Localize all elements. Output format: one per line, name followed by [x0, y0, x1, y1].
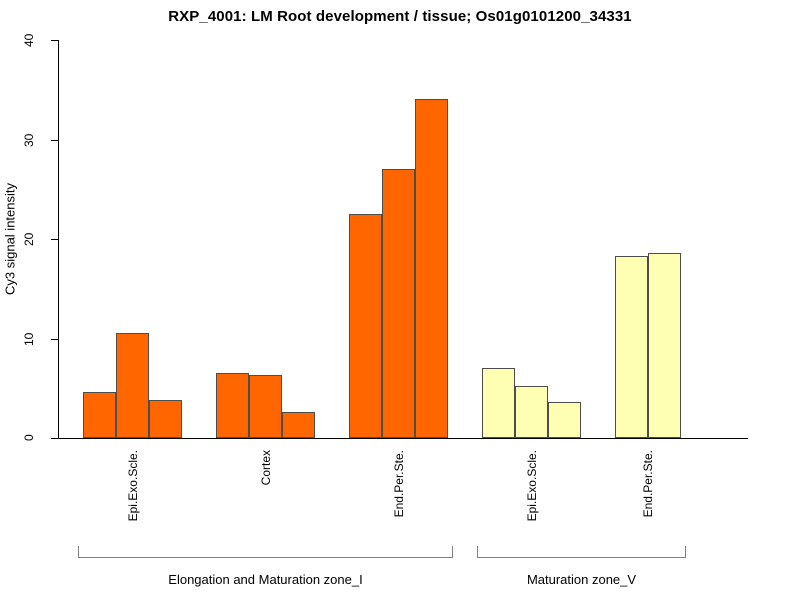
- bar: [149, 400, 182, 438]
- bar: [515, 386, 548, 438]
- bar: [548, 402, 581, 438]
- bar: [382, 169, 415, 438]
- chart-canvas: RXP_4001: LM Root development / tissue; …: [0, 0, 800, 600]
- x-tick-label: Epi.Exo.Scle.: [526, 450, 538, 521]
- y-tick-label: 30: [14, 128, 44, 152]
- x-tick-label: Cortex: [260, 450, 272, 485]
- bar: [249, 375, 282, 438]
- bar: [648, 253, 681, 438]
- bar: [282, 412, 315, 438]
- bar: [615, 256, 648, 438]
- bar: [83, 392, 116, 438]
- x-tick-label: End.Per.Ste.: [642, 450, 654, 517]
- y-tick-40: [51, 40, 58, 41]
- bar: [216, 373, 249, 438]
- x-tick-label: End.Per.Ste.: [393, 450, 405, 517]
- bar: [349, 214, 382, 438]
- y-tick-0: [51, 438, 58, 439]
- bar: [415, 99, 448, 438]
- group-bracket: [477, 546, 686, 558]
- y-axis-line: [58, 40, 59, 439]
- bar: [116, 333, 149, 438]
- plot-area: 010203040: [58, 40, 748, 439]
- bar: [482, 368, 515, 438]
- y-tick-10: [51, 339, 58, 340]
- y-tick-label: 0: [14, 426, 44, 450]
- group-bracket-label: Elongation and Maturation zone_I: [78, 572, 453, 587]
- x-tick-label: Epi.Exo.Scle.: [127, 450, 139, 521]
- y-tick-label: 10: [14, 327, 44, 351]
- y-tick-30: [51, 140, 58, 141]
- chart-title: RXP_4001: LM Root development / tissue; …: [0, 8, 800, 25]
- group-bracket: [78, 546, 453, 558]
- y-tick-20: [51, 239, 58, 240]
- x-axis-line: [58, 438, 748, 439]
- group-bracket-label: Maturation zone_V: [477, 572, 686, 587]
- y-tick-label: 20: [14, 227, 44, 251]
- y-tick-label: 40: [14, 28, 44, 52]
